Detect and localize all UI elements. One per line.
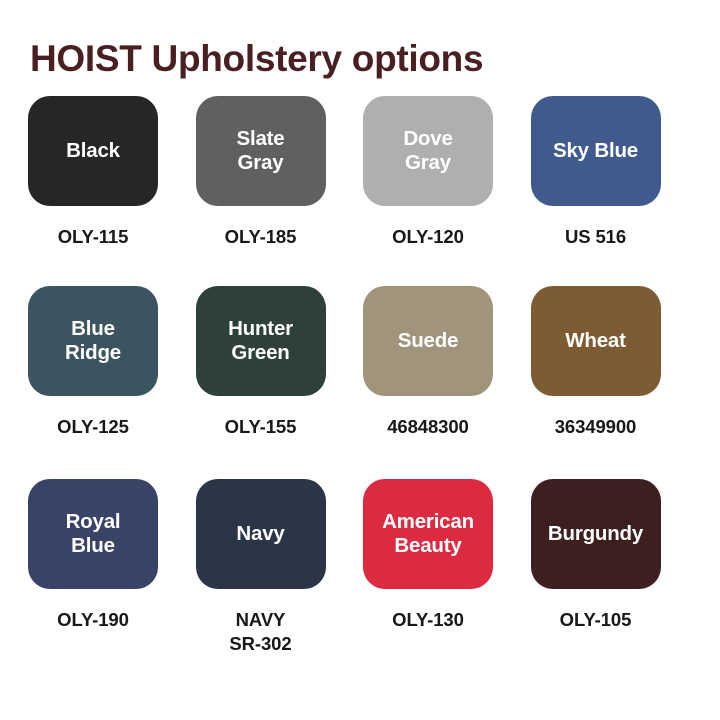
swatch-code-label: OLY-125 [28,415,158,439]
swatch-name-label: Slate Gray [237,127,285,175]
swatch-code-label: OLY-115 [28,225,158,249]
swatch-row: Royal Blue OLY-190 Navy NAVY SR-302 Amer… [0,479,720,679]
page-title: HOIST Upholstery options [30,39,483,80]
swatch-code-label: OLY-155 [196,415,326,439]
swatch-cell-royal-blue[interactable]: Royal Blue OLY-190 [28,479,196,679]
swatch-chip[interactable]: Wheat [531,286,661,396]
swatch-chip[interactable]: Hunter Green [196,286,326,396]
swatch-chip[interactable]: Blue Ridge [28,286,158,396]
swatch-code-label: NAVY SR-302 [196,608,326,657]
swatch-name-label: Black [66,139,120,163]
swatch-chip[interactable]: Navy [196,479,326,589]
swatch-cell-wheat[interactable]: Wheat 36349900 [531,286,699,479]
swatch-name-label: Sky Blue [553,139,638,163]
swatch-cell-sky-blue[interactable]: Sky Blue US 516 [531,96,699,286]
swatch-cell-hunter-green[interactable]: Hunter Green OLY-155 [196,286,364,479]
swatch-name-label: Navy [236,522,284,546]
swatch-code-label: 46848300 [363,415,493,439]
swatch-name-label: Royal Blue [66,510,121,558]
swatch-chip[interactable]: Suede [363,286,493,396]
swatch-cell-dove-gray[interactable]: Dove Gray OLY-120 [363,96,531,286]
swatch-chip[interactable]: Dove Gray [363,96,493,206]
swatch-code-label: US 516 [531,225,661,249]
swatch-cell-blue-ridge[interactable]: Blue Ridge OLY-125 [28,286,196,479]
swatch-cell-navy[interactable]: Navy NAVY SR-302 [196,479,364,679]
swatch-name-label: Suede [398,329,459,353]
swatch-code-label: 36349900 [531,415,661,439]
swatch-name-label: Burgundy [548,522,643,546]
swatch-chip[interactable]: Royal Blue [28,479,158,589]
swatch-code-label: OLY-130 [363,608,493,632]
swatch-cell-american-beauty[interactable]: American Beauty OLY-130 [363,479,531,679]
swatch-code-label: OLY-120 [363,225,493,249]
upholstery-options-page: HOIST Upholstery options Black OLY-115 S… [0,0,720,720]
swatch-chip[interactable]: American Beauty [363,479,493,589]
swatch-name-label: Wheat [565,329,626,353]
swatch-code-label: OLY-105 [531,608,661,632]
swatch-name-label: American Beauty [382,510,474,558]
swatch-cell-burgundy[interactable]: Burgundy OLY-105 [531,479,699,679]
swatch-chip[interactable]: Black [28,96,158,206]
swatch-grid: Black OLY-115 Slate Gray OLY-185 Dove Gr… [0,96,720,679]
swatch-code-label: OLY-190 [28,608,158,632]
swatch-code-label: OLY-185 [196,225,326,249]
swatch-cell-suede[interactable]: Suede 46848300 [363,286,531,479]
swatch-row: Black OLY-115 Slate Gray OLY-185 Dove Gr… [0,96,720,286]
swatch-name-label: Blue Ridge [65,317,121,365]
swatch-cell-slate-gray[interactable]: Slate Gray OLY-185 [196,96,364,286]
swatch-name-label: Hunter Green [228,317,293,365]
swatch-row: Blue Ridge OLY-125 Hunter Green OLY-155 … [0,286,720,479]
swatch-cell-black[interactable]: Black OLY-115 [28,96,196,286]
swatch-name-label: Dove Gray [403,127,452,175]
swatch-chip[interactable]: Slate Gray [196,96,326,206]
swatch-chip[interactable]: Sky Blue [531,96,661,206]
swatch-chip[interactable]: Burgundy [531,479,661,589]
